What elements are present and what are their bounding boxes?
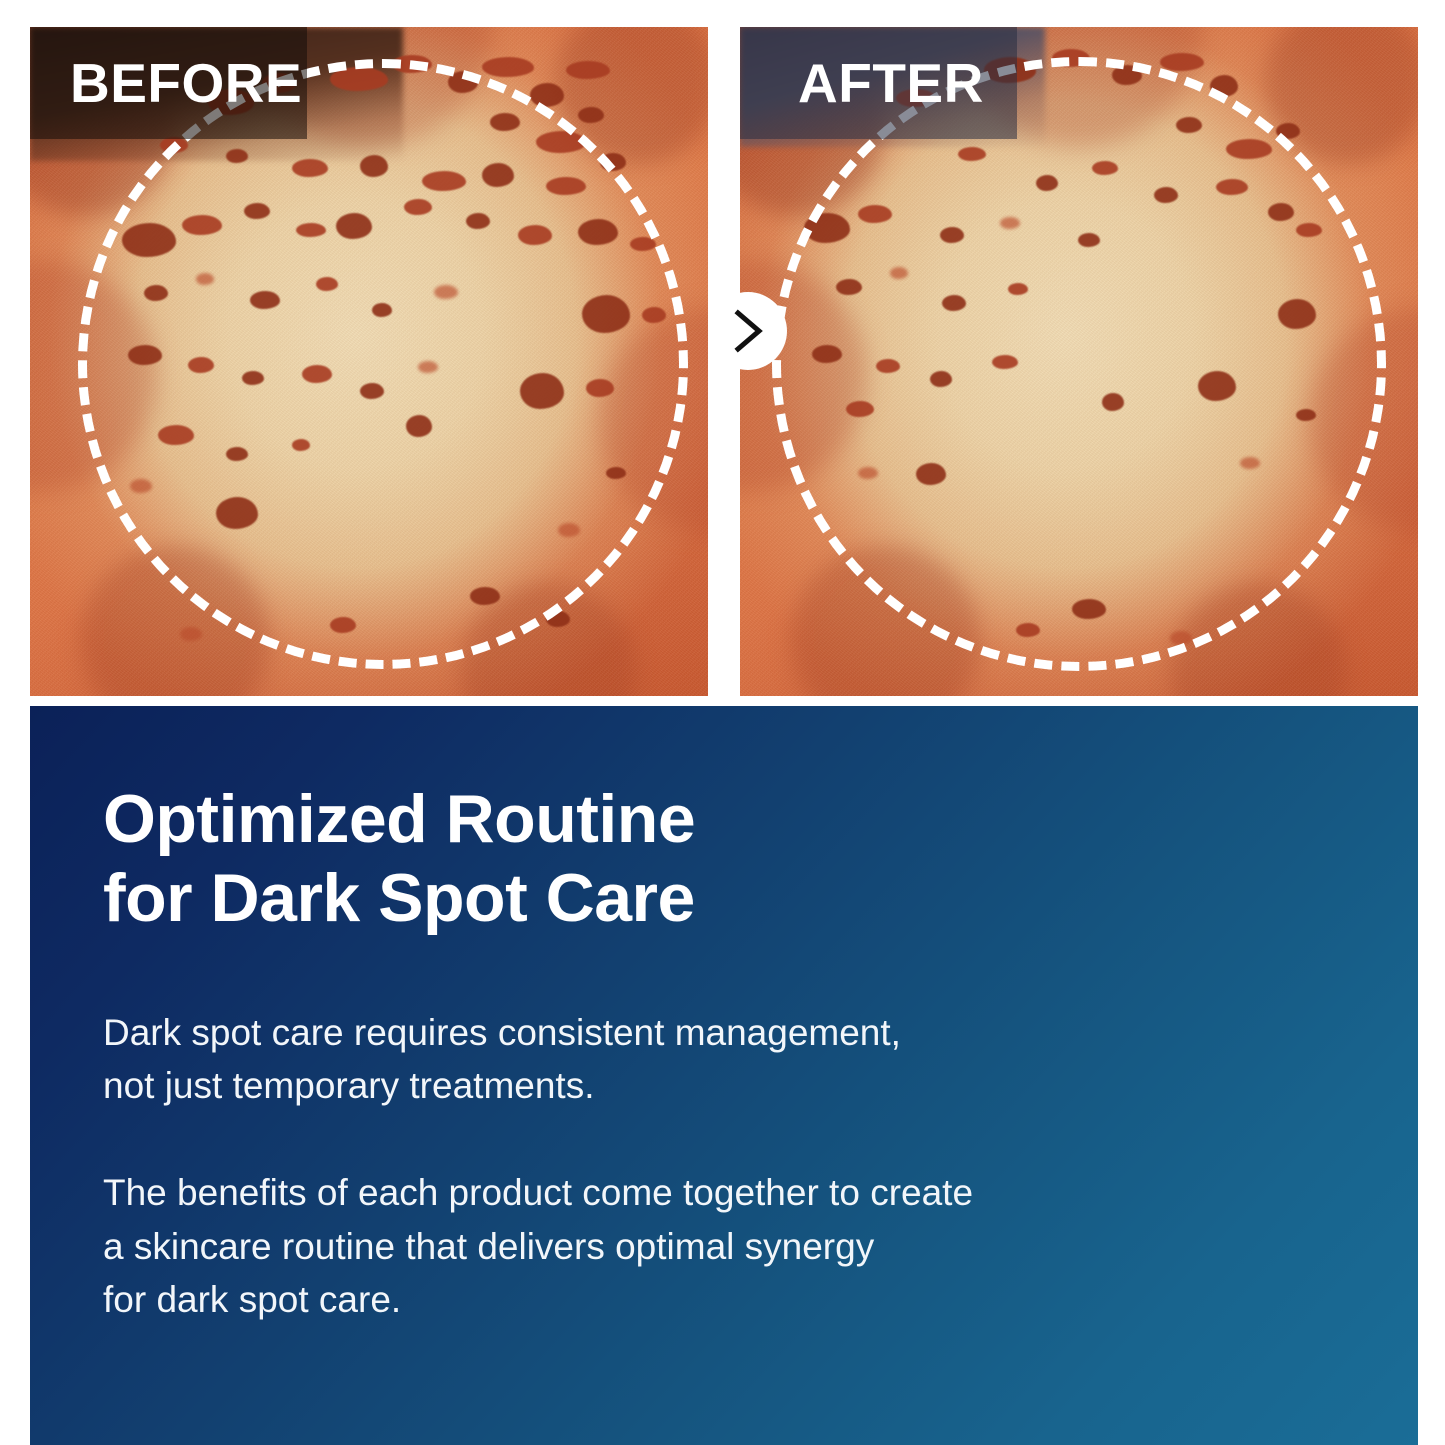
info-panel: Optimized Routine for Dark Spot Care Dar… [30, 706, 1418, 1445]
paragraph-two-line-2: a skincare routine that delivers optimal… [103, 1220, 1378, 1273]
dashed-circle-icon [78, 59, 688, 669]
before-label-plate: BEFORE [30, 27, 307, 139]
paragraph-two-line-3: for dark spot care. [103, 1273, 1378, 1326]
paragraph-two: The benefits of each product come togeth… [103, 1166, 1378, 1326]
paragraph-one: Dark spot care requires consistent manag… [103, 1006, 1378, 1113]
before-photo-panel[interactable]: BEFORE [30, 27, 708, 696]
paragraph-one-line-1: Dark spot care requires consistent manag… [103, 1006, 1378, 1059]
chevron-right-icon[interactable] [709, 292, 787, 370]
headline-line-2: for Dark Spot Care [103, 859, 1378, 938]
before-after-comparison: BEFORE [30, 27, 1418, 696]
paragraph-two-line-1: The benefits of each product come togeth… [103, 1166, 1378, 1219]
after-photo-panel[interactable]: AFTER [740, 27, 1418, 696]
after-label-plate: AFTER [740, 27, 1017, 139]
dashed-circle-icon [772, 57, 1386, 671]
before-label: BEFORE [70, 56, 302, 111]
after-label: AFTER [798, 56, 984, 111]
info-content: Optimized Routine for Dark Spot Care Dar… [103, 780, 1378, 1326]
promo-card: BEFORE [0, 0, 1445, 1445]
page-title: Optimized Routine for Dark Spot Care [103, 780, 1378, 938]
headline-line-1: Optimized Routine [103, 780, 1378, 859]
paragraph-one-line-2: not just temporary treatments. [103, 1059, 1378, 1112]
